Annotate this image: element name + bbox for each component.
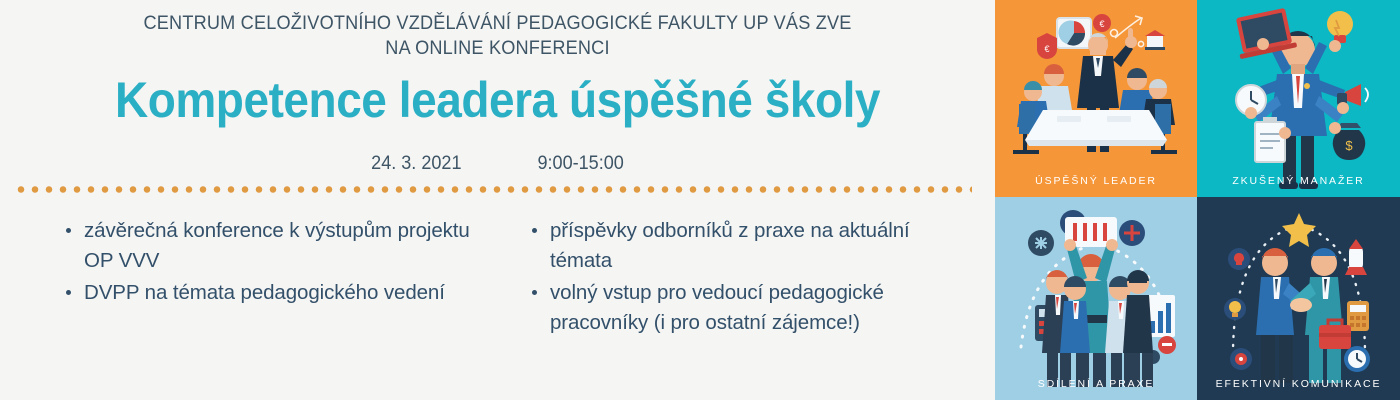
bullet-dot-icon	[66, 228, 71, 233]
panel-sdileni-a-praxe: SDÍLENÍ A PRAXE	[995, 197, 1197, 400]
team-illustration-icon	[995, 197, 1197, 400]
list-item: závěrečná konference k výstupům projektu…	[62, 216, 490, 276]
multitasking-manager-illustration-icon: $	[1197, 0, 1400, 197]
highlights-left-column: závěrečná konference k výstupům projektu…	[0, 216, 500, 340]
list-item-label: příspěvky odborníků z praxe na aktuální …	[550, 219, 910, 272]
bullet-dot-icon	[532, 290, 537, 295]
panel-caption: ZKUŠENÝ MANAŽER	[1197, 175, 1400, 187]
panel-zkuseny-manazer: $ ZKUŠENÝ MANAŽER	[1197, 0, 1400, 197]
list-item: volný vstup pro vedoucí pedagogické prac…	[528, 278, 955, 338]
page-title: Kompetence leadera úspěšné školy	[40, 72, 955, 128]
svg-text:€: €	[1099, 19, 1104, 29]
event-date: 24. 3. 2021	[371, 152, 461, 176]
banner-text-pane: CENTRUM CELOŽIVOTNÍHO VZDĚLÁVÁNÍ PEDAGOG…	[0, 0, 995, 400]
list-item-label: DVPP na témata pedagogického vedení	[84, 281, 445, 304]
highlights-right-column: příspěvky odborníků z praxe na aktuální …	[500, 216, 995, 340]
panel-caption: EFEKTIVNÍ KOMUNIKACE	[1197, 378, 1400, 390]
conference-banner: CENTRUM CELOŽIVOTNÍHO VZDĚLÁVÁNÍ PEDAGOG…	[0, 0, 1400, 400]
eyebrow-line-1: CENTRUM CELOŽIVOTNÍHO VZDĚLÁVÁNÍ PEDAGOG…	[143, 12, 851, 34]
panel-uspesny-leader: € €	[995, 0, 1197, 197]
organizer-eyebrow: CENTRUM CELOŽIVOTNÍHO VZDĚLÁVÁNÍ PEDAGOG…	[35, 11, 960, 61]
list-item-label: volný vstup pro vedoucí pedagogické prac…	[550, 281, 884, 334]
highlights: závěrečná konference k výstupům projektu…	[0, 216, 995, 340]
event-meta: 24. 3. 2021 9:00-15:00	[25, 152, 970, 176]
meeting-illustration-icon: € €	[995, 0, 1197, 197]
svg-text:$: $	[1345, 138, 1353, 153]
eyebrow-line-2: NA ONLINE KONFERENCI	[35, 36, 960, 61]
event-time: 9:00-15:00	[538, 152, 624, 176]
bullet-dot-icon	[66, 290, 71, 295]
list-item: příspěvky odborníků z praxe na aktuální …	[528, 216, 955, 276]
highlights-left-list: závěrečná konference k výstupům projektu…	[62, 216, 490, 308]
bullet-dot-icon	[532, 228, 537, 233]
highlights-right-list: příspěvky odborníků z praxe na aktuální …	[528, 216, 955, 338]
panel-caption: ÚSPĚŠNÝ LEADER	[995, 175, 1197, 187]
handshake-illustration-icon	[1197, 197, 1400, 400]
svg-text:€: €	[1044, 44, 1049, 54]
dotted-divider	[14, 186, 972, 193]
panel-efektivni-komunikace: EFEKTIVNÍ KOMUNIKACE	[1197, 197, 1400, 400]
illustration-grid: € €	[995, 0, 1400, 400]
list-item: DVPP na témata pedagogického vedení	[62, 278, 490, 308]
panel-caption: SDÍLENÍ A PRAXE	[995, 378, 1197, 390]
list-item-label: závěrečná konference k výstupům projektu…	[84, 219, 470, 272]
